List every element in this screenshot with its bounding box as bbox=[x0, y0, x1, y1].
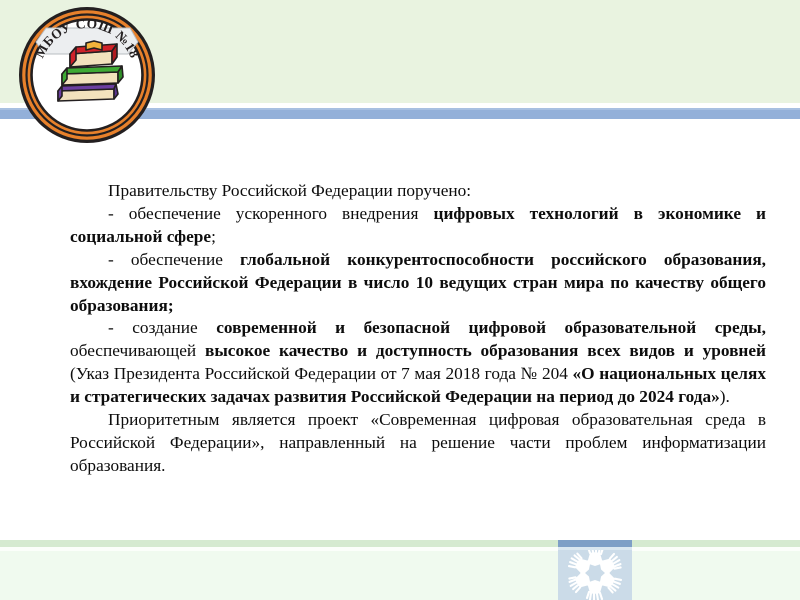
text-run: Правительству Российской Федерации поруч… bbox=[108, 181, 471, 200]
footer-green-stripe bbox=[0, 540, 800, 547]
text-run-bold: современной и безопасной цифровой образо… bbox=[216, 318, 766, 337]
slide-body-text: Правительству Российской Федерации поруч… bbox=[70, 180, 766, 478]
text-run: ). bbox=[720, 387, 730, 406]
slide-root: МБОУ СОШ №18 имени В.Я. Алексеева bbox=[0, 0, 800, 600]
text-run: (Указ Президента Российской Федерации от… bbox=[70, 364, 573, 383]
text-run: Приоритетным является проект «Современна… bbox=[70, 410, 766, 475]
paragraph-bullet-3: - создание современной и безопасной цифр… bbox=[70, 317, 766, 409]
badge-top-bar bbox=[558, 540, 632, 547]
paragraph-intro: Правительству Российской Федерации поруч… bbox=[70, 180, 766, 203]
paragraph-bullet-1: - обеспечение ускоренного внедрения цифр… bbox=[70, 203, 766, 249]
badge-edge-highlight bbox=[558, 547, 632, 550]
text-run-bold: высокое качество и доступность образован… bbox=[205, 341, 766, 360]
paragraph-closing: Приоритетным является проект «Современна… bbox=[70, 409, 766, 478]
text-run: ; bbox=[211, 227, 216, 246]
text-run: - обеспечение ускоренного внедрения bbox=[108, 204, 433, 223]
hands-flower-icon bbox=[567, 546, 623, 600]
school-emblem: МБОУ СОШ №18 имени В.Я. Алексеева bbox=[18, 6, 156, 144]
paragraph-bullet-2: - обеспечение глобальной конкурентоспосо… bbox=[70, 249, 766, 318]
text-run: - создание bbox=[108, 318, 216, 337]
footer-pale-panel bbox=[0, 551, 800, 600]
text-run: обеспечивающей bbox=[70, 341, 205, 360]
text-run: - обеспечение bbox=[108, 250, 240, 269]
